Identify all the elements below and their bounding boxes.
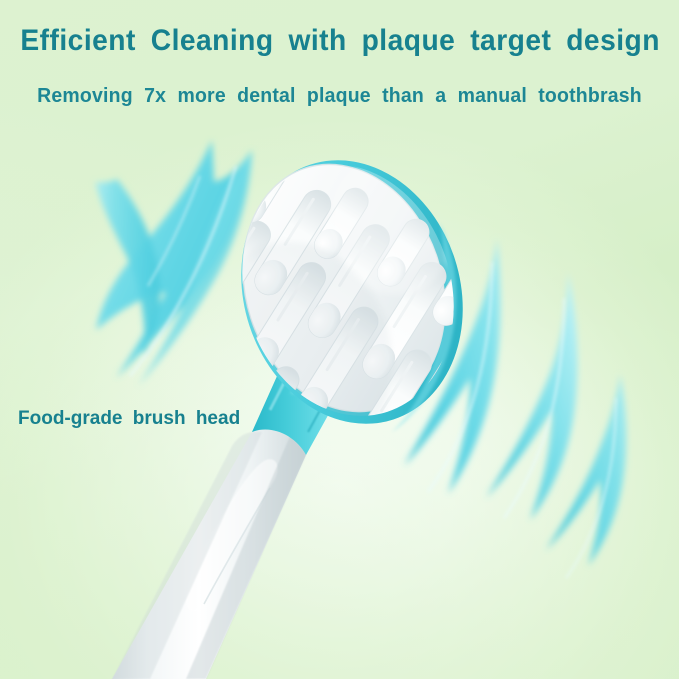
swoosh-wing-left [95, 140, 252, 386]
toothbrush-handle [112, 429, 306, 679]
page-subtitle: Removing 7x more dental plaque than a ma… [17, 84, 662, 108]
page-title: Efficient Cleaning with plaque target de… [20, 24, 658, 58]
product-feature-poster: Efficient Cleaning with plaque target de… [0, 0, 679, 679]
feature-caption-food-grade-brush-head: Food-grade brush head [18, 408, 240, 430]
